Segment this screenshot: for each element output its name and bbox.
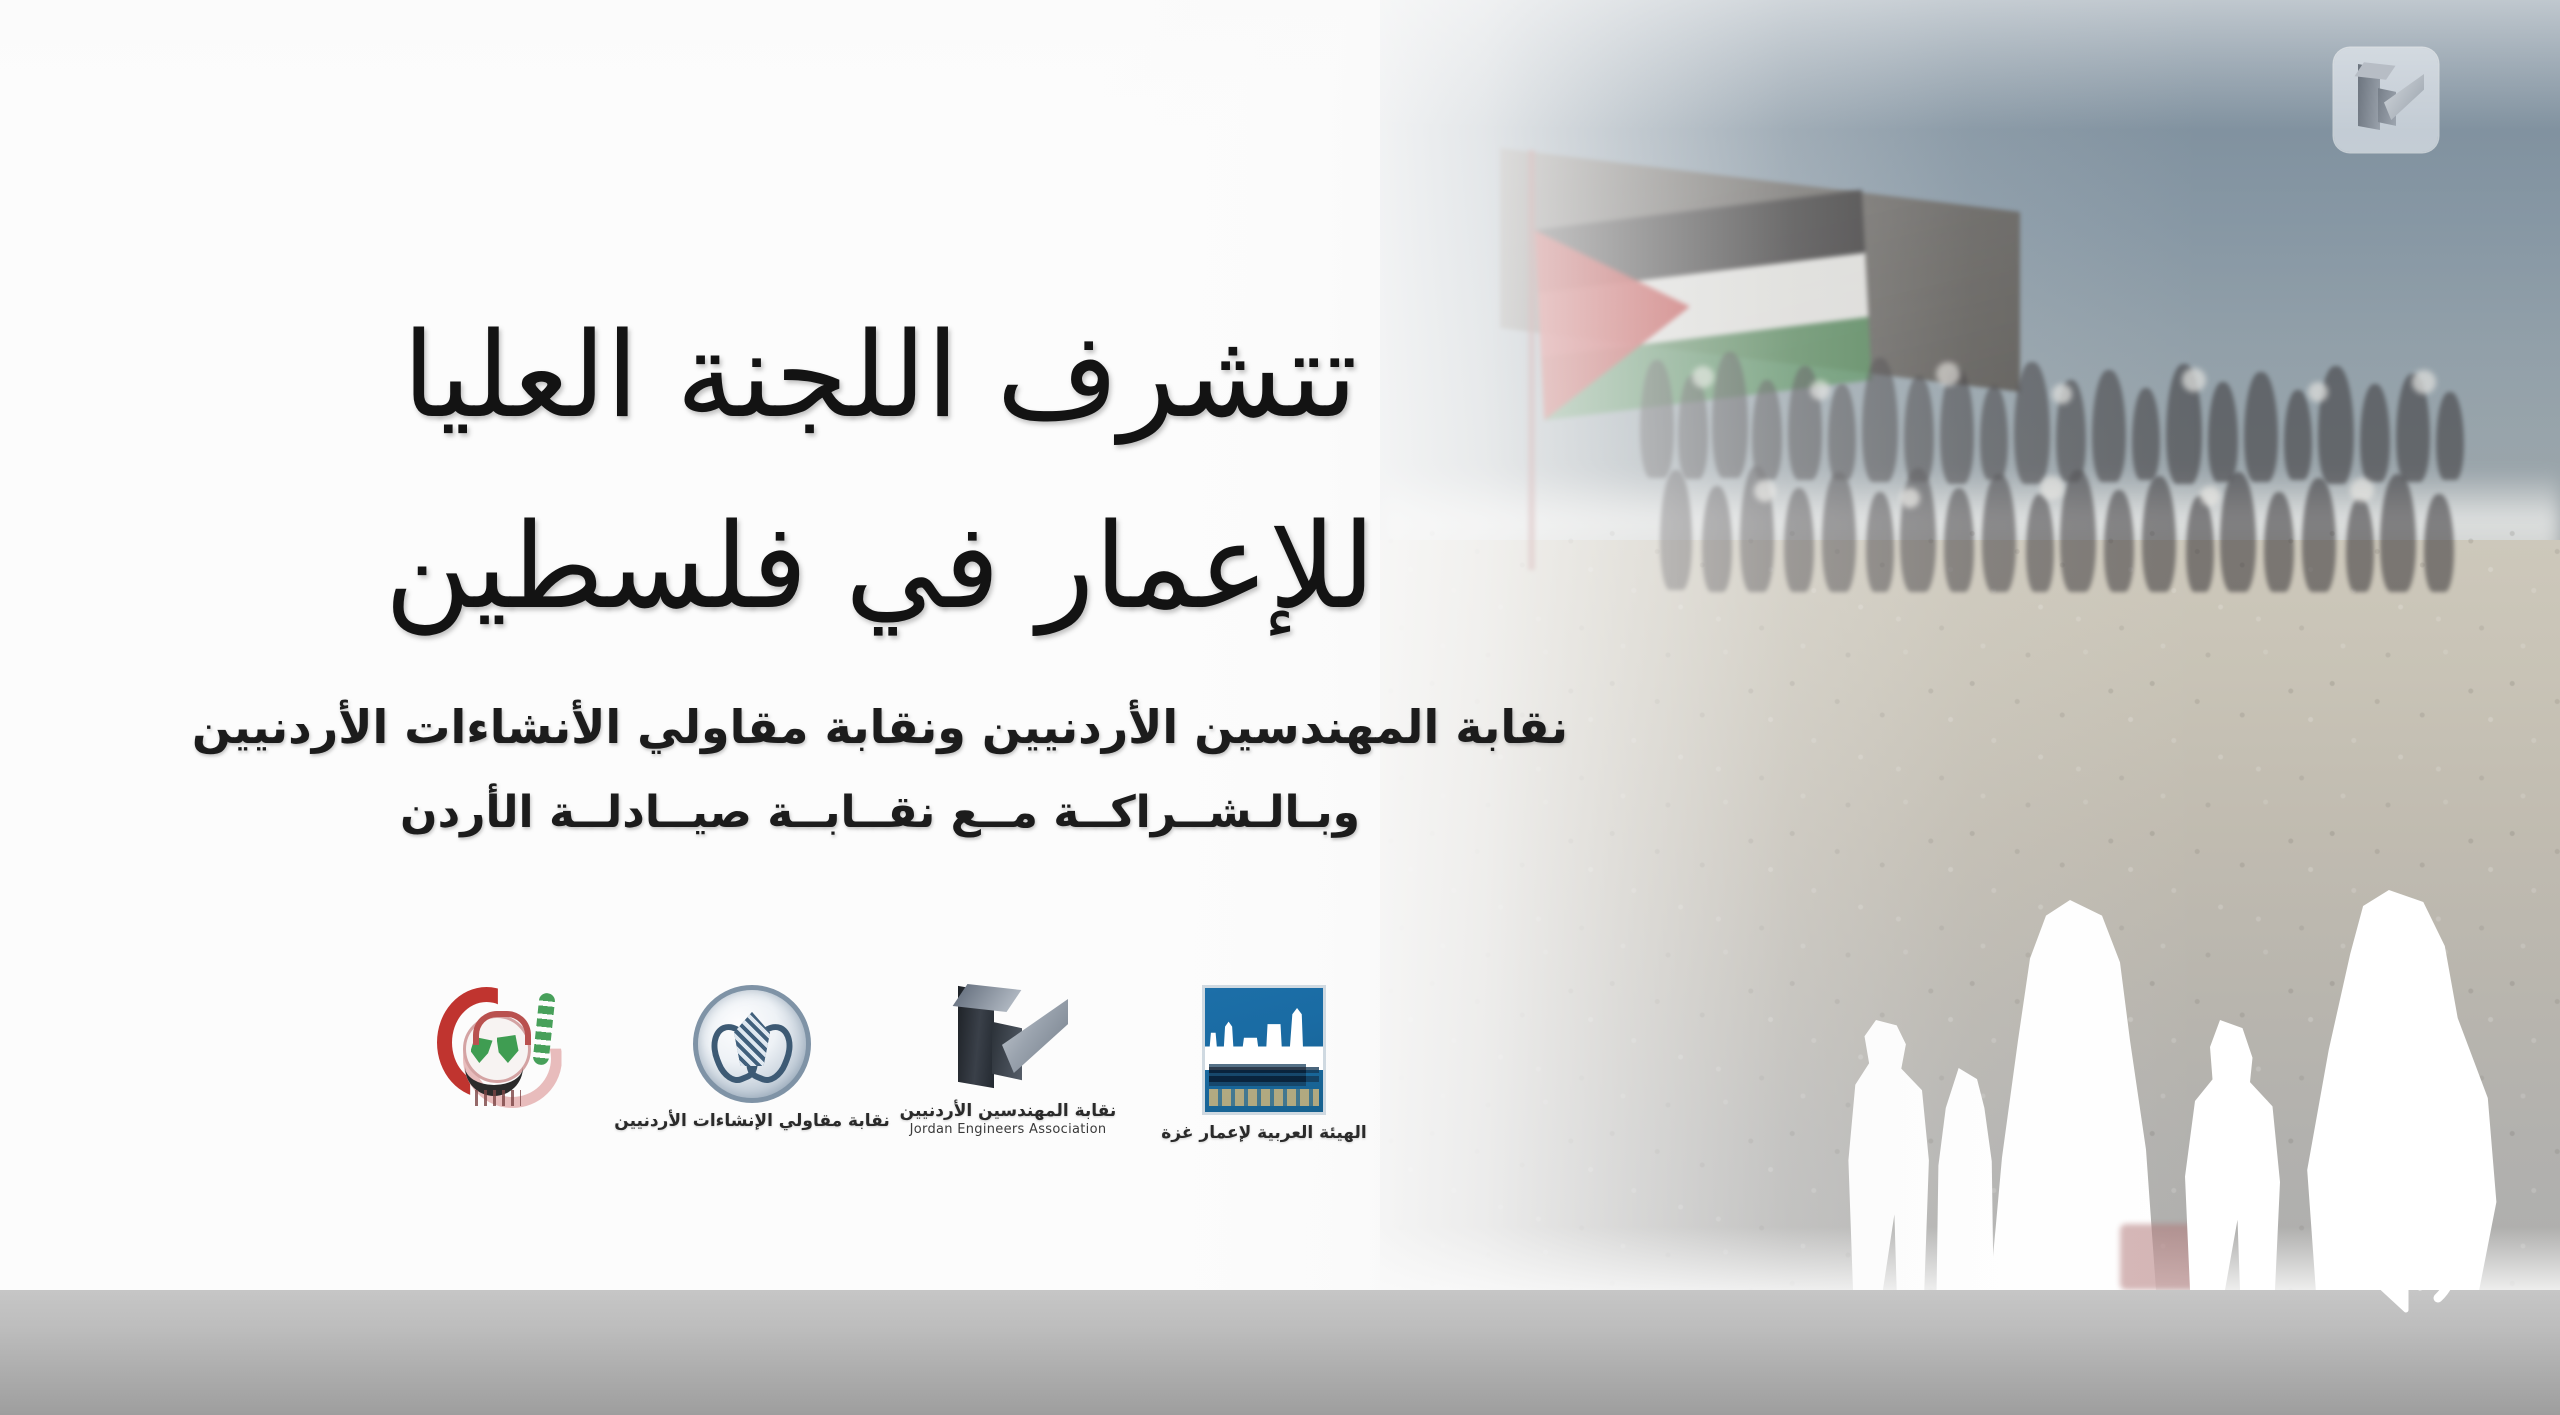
pharmacists-roundel-logo-icon (429, 985, 564, 1110)
logo-caption-ar: نقابة المهندسين الأردنيين (900, 1101, 1117, 1122)
jea-watermark-badge-icon (2334, 48, 2438, 152)
jea-3d-logo-icon (944, 985, 1072, 1093)
video-frame: تتشرف اللجنة العليا للإعمار في فلسطين نق… (0, 0, 2560, 1415)
gaza-skyline-logo-icon (1202, 985, 1326, 1115)
logo-caption-en: Jordan Engineers Association (910, 1122, 1107, 1137)
headline-line-2: للإعمار في فلسطين (0, 471, 1760, 662)
logo-jordan-construction-contractors-association: نقابة مقاولي الإنشاءات الأردنيين (652, 985, 852, 1132)
speaker-volume-icon[interactable] (2350, 1224, 2470, 1320)
subtitle-line-1: نقابة المهندسين الأردنيين ونقابة مقاولي … (192, 700, 1568, 754)
logo-caption-ar: نقابة مقاولي الإنشاءات الأردنيين (614, 1111, 889, 1132)
bottom-bar (0, 1290, 2560, 1415)
contractors-roundel-logo-icon (693, 985, 811, 1103)
subtitle: نقابة المهندسين الأردنيين ونقابة مقاولي … (0, 690, 1760, 848)
slide-content: تتشرف اللجنة العليا للإعمار في فلسطين نق… (0, 0, 1760, 1290)
headline-line-1: تتشرف اللجنة العليا (402, 306, 1357, 444)
partner-logos: نقابة مقاولي الإنشاءات الأردنيين نقابة ا… (0, 985, 1760, 1144)
logo-jordan-pharmacists-association (396, 985, 596, 1118)
logo-arab-authority-gaza-reconstruction: الهيئة العربية لإعمار غزة (1164, 985, 1364, 1144)
logo-caption-ar: الهيئة العربية لإعمار غزة (1161, 1123, 1366, 1144)
logo-jordan-engineers-association: نقابة المهندسين الأردنيين Jordan Enginee… (908, 985, 1108, 1137)
subtitle-line-2: وبـالـشــراكــة مــع نقــابــة صيــادلــ… (0, 777, 1760, 848)
page-title: تتشرف اللجنة العليا للإعمار في فلسطين (0, 280, 1760, 662)
